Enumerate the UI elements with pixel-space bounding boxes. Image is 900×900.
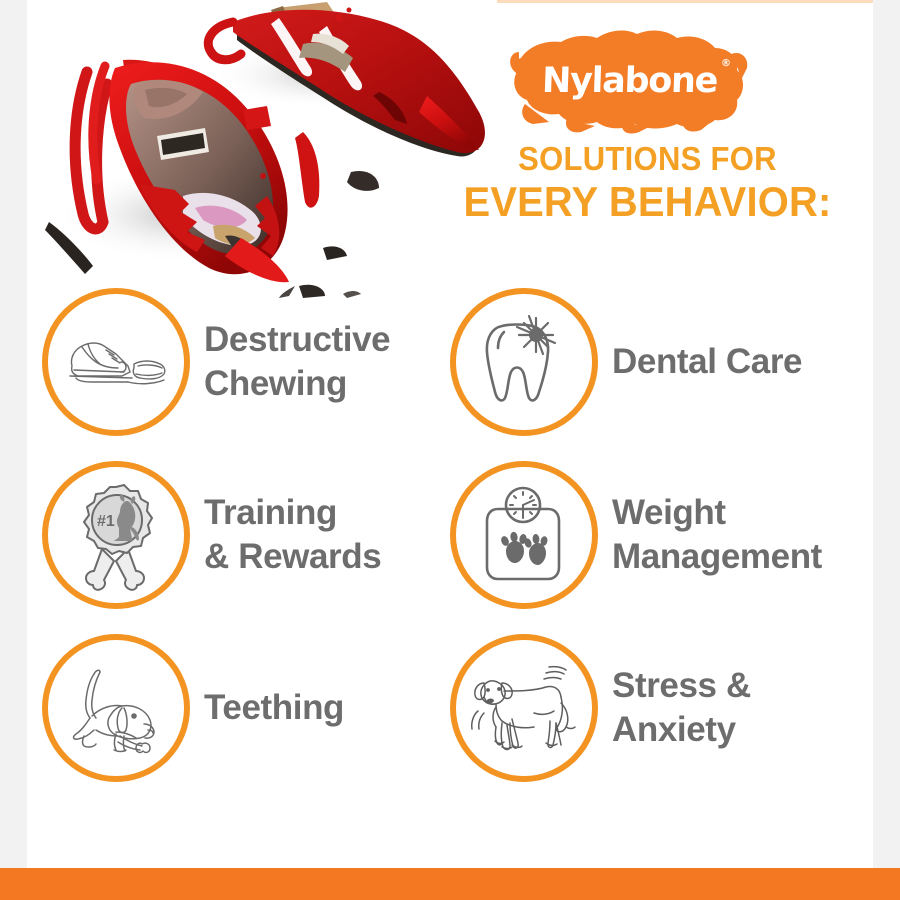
number-one-award-ribbon-dog-icon: #1 [64,479,168,591]
nylabone-solutions-banner: Nylabone ® SOLUTIONS FOR EVERY BEHAVIOR: [0,0,900,900]
benefit-label: Dental Care [612,340,802,384]
registered-trademark-icon: ® [721,58,731,69]
bathroom-scale-paw-prints-icon [474,481,574,589]
chewed-shoe-icon [62,322,170,402]
benefit-label: Teething [204,686,344,730]
benefits-grid: Destructive Chewing [27,288,873,808]
benefit-item-training-rewards[interactable]: #1 Training & Rewards [42,461,381,609]
benefit-item-stress-anxiety[interactable]: Stress & Anxiety [450,634,751,782]
bottom-orange-band [0,868,900,900]
benefit-label: Destructive Chewing [204,318,390,406]
benefit-icon-circle [450,288,598,436]
paw-print-right [523,534,548,565]
benefit-icon-circle [42,634,190,782]
heading-line-2: EVERY BEHAVIOR: [431,178,863,226]
benefit-icon-circle [450,461,598,609]
benefit-icon-circle [42,288,190,436]
benefit-item-teething[interactable]: Teething [42,634,344,782]
heading-line-1: SOLUTIONS FOR [434,140,862,178]
benefit-item-weight-management[interactable]: Weight Management [450,461,822,609]
benefit-item-destructive-chewing[interactable]: Destructive Chewing [42,288,390,436]
benefit-label: Stress & Anxiety [612,664,751,752]
right-gutter [873,0,900,868]
puppy-chewing-bone-icon [60,660,172,756]
anxious-shaking-dog-icon [466,657,582,759]
paw-print-left [500,531,528,563]
badge-number: #1 [97,513,115,530]
benefit-item-dental-care[interactable]: Dental Care [450,288,802,436]
brand-logo: Nylabone ® [505,26,755,136]
benefit-label: Training & Rewards [204,491,381,579]
sparkling-tooth-icon [474,310,574,414]
benefit-label: Weight Management [612,491,822,579]
benefit-icon-circle: #1 [42,461,190,609]
benefit-icon-circle [450,634,598,782]
heading-block: SOLUTIONS FOR EVERY BEHAVIOR: [420,140,875,226]
logo-text: Nylabone [542,64,718,99]
left-gutter [0,0,27,868]
